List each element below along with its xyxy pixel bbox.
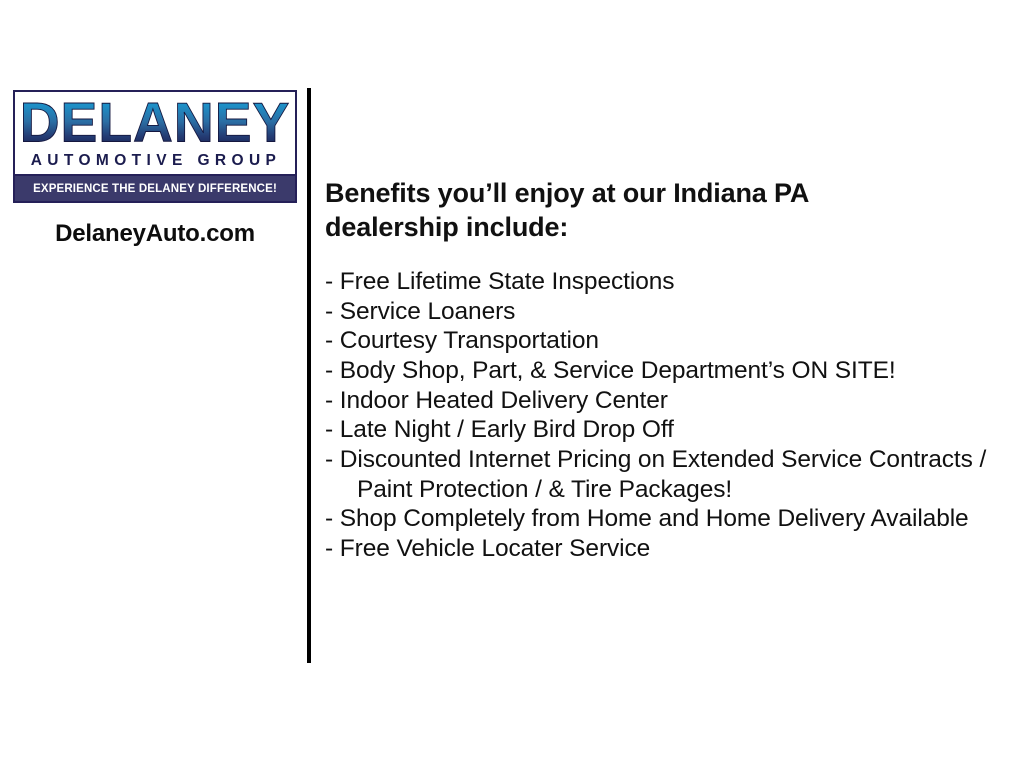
- logo-tagline-text: EXPERIENCE THE DELANEY DIFFERENCE!: [33, 183, 277, 195]
- content-column: Benefits you’ll enjoy at our Indiana PA …: [325, 176, 1005, 563]
- benefit-item: Paint Protection / & Tire Packages!: [325, 475, 1005, 505]
- logo-subtitle: AUTOMOTIVE GROUP: [18, 151, 292, 174]
- benefit-item: - Late Night / Early Bird Drop Off: [325, 415, 1005, 445]
- logo-upper-section: DELANEY AUTOMOTIVE GROUP: [15, 92, 295, 174]
- benefit-item: - Discounted Internet Pricing on Extende…: [325, 445, 1005, 475]
- benefit-item: - Free Vehicle Locater Service: [325, 534, 1005, 564]
- vertical-divider: [307, 88, 311, 663]
- delaney-logo: DELANEY AUTOMOTIVE GROUP EXPERIENCE THE …: [13, 90, 297, 203]
- benefit-item: - Free Lifetime State Inspections: [325, 267, 1005, 297]
- delaney-wordmark-icon: DELANEY: [18, 95, 292, 151]
- brand-column: DELANEY AUTOMOTIVE GROUP EXPERIENCE THE …: [13, 90, 297, 248]
- benefit-item: - Body Shop, Part, & Service Department’…: [325, 356, 1005, 386]
- benefit-item: - Service Loaners: [325, 297, 1005, 327]
- logo-tagline-banner: EXPERIENCE THE DELANEY DIFFERENCE!: [15, 174, 295, 201]
- benefits-heading: Benefits you’ll enjoy at our Indiana PA …: [325, 176, 855, 244]
- marketing-slide: DELANEY AUTOMOTIVE GROUP EXPERIENCE THE …: [0, 0, 1024, 768]
- benefit-item: - Courtesy Transportation: [325, 326, 1005, 356]
- benefit-item: - Shop Completely from Home and Home Del…: [325, 504, 1005, 534]
- benefit-item: - Indoor Heated Delivery Center: [325, 386, 1005, 416]
- website-url[interactable]: DelaneyAuto.com: [13, 220, 297, 248]
- svg-text:DELANEY: DELANEY: [20, 95, 291, 151]
- benefits-list: - Free Lifetime State Inspections- Servi…: [325, 267, 1005, 563]
